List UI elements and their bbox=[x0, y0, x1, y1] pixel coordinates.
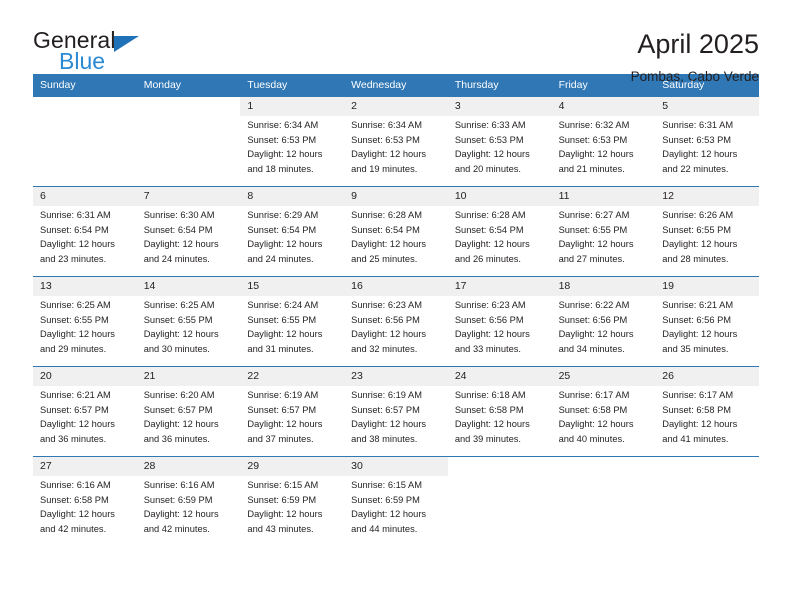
day-number: 6 bbox=[33, 187, 137, 206]
sunset-text: Sunset: 6:53 PM bbox=[662, 133, 753, 148]
sunset-text: Sunset: 6:55 PM bbox=[247, 313, 338, 328]
weekday-header-saturday: Saturday bbox=[655, 74, 759, 97]
sunrise-text: Sunrise: 6:28 AM bbox=[455, 208, 546, 223]
daylight-text-line1: Daylight: 12 hours bbox=[662, 327, 753, 342]
sunset-text: Sunset: 6:57 PM bbox=[144, 403, 235, 418]
daylight-text-line2: and 24 minutes. bbox=[144, 252, 235, 267]
daylight-text-line1: Daylight: 12 hours bbox=[455, 417, 546, 432]
daylight-text-line1: Daylight: 12 hours bbox=[351, 327, 442, 342]
daylight-text-line2: and 43 minutes. bbox=[247, 522, 338, 537]
daylight-text-line2: and 24 minutes. bbox=[247, 252, 338, 267]
sunset-text: Sunset: 6:53 PM bbox=[351, 133, 442, 148]
calendar-day-cell[interactable]: 21Sunrise: 6:20 AMSunset: 6:57 PMDayligh… bbox=[137, 367, 241, 456]
sunrise-text: Sunrise: 6:25 AM bbox=[144, 298, 235, 313]
day-number: 29 bbox=[240, 457, 344, 476]
day-number bbox=[552, 457, 656, 476]
calendar-grid: Sunday Monday Tuesday Wednesday Thursday… bbox=[33, 74, 759, 546]
calendar-page: General Blue April 2025 Pombas, Cabo Ver… bbox=[0, 0, 792, 612]
weekday-header-sunday: Sunday bbox=[33, 74, 137, 97]
sunset-text: Sunset: 6:58 PM bbox=[559, 403, 650, 418]
calendar-day-cell[interactable]: 22Sunrise: 6:19 AMSunset: 6:57 PMDayligh… bbox=[240, 367, 344, 456]
daylight-text-line1: Daylight: 12 hours bbox=[144, 237, 235, 252]
day-number: 3 bbox=[448, 97, 552, 116]
sunset-text: Sunset: 6:55 PM bbox=[40, 313, 131, 328]
daylight-text-line2: and 34 minutes. bbox=[559, 342, 650, 357]
day-details: Sunrise: 6:20 AMSunset: 6:57 PMDaylight:… bbox=[137, 386, 241, 446]
calendar-week-row: 6Sunrise: 6:31 AMSunset: 6:54 PMDaylight… bbox=[33, 186, 759, 276]
sunset-text: Sunset: 6:56 PM bbox=[662, 313, 753, 328]
day-number: 25 bbox=[552, 367, 656, 386]
sunset-text: Sunset: 6:54 PM bbox=[247, 223, 338, 238]
day-number: 2 bbox=[344, 97, 448, 116]
calendar-day-cell[interactable]: 28Sunrise: 6:16 AMSunset: 6:59 PMDayligh… bbox=[137, 457, 241, 546]
weekday-header-thursday: Thursday bbox=[448, 74, 552, 97]
day-details: Sunrise: 6:17 AMSunset: 6:58 PMDaylight:… bbox=[552, 386, 656, 446]
day-details: Sunrise: 6:22 AMSunset: 6:56 PMDaylight:… bbox=[552, 296, 656, 356]
day-number bbox=[33, 97, 137, 116]
sunrise-text: Sunrise: 6:16 AM bbox=[144, 478, 235, 493]
daylight-text-line2: and 27 minutes. bbox=[559, 252, 650, 267]
sunset-text: Sunset: 6:55 PM bbox=[662, 223, 753, 238]
day-number bbox=[655, 457, 759, 476]
daylight-text-line1: Daylight: 12 hours bbox=[40, 237, 131, 252]
day-number: 23 bbox=[344, 367, 448, 386]
calendar-day-cell[interactable]: 19Sunrise: 6:21 AMSunset: 6:56 PMDayligh… bbox=[655, 277, 759, 366]
day-number bbox=[448, 457, 552, 476]
day-details: Sunrise: 6:34 AMSunset: 6:53 PMDaylight:… bbox=[240, 116, 344, 176]
sunrise-text: Sunrise: 6:21 AM bbox=[40, 388, 131, 403]
day-number: 26 bbox=[655, 367, 759, 386]
sunrise-text: Sunrise: 6:28 AM bbox=[351, 208, 442, 223]
sunset-text: Sunset: 6:54 PM bbox=[455, 223, 546, 238]
sunrise-text: Sunrise: 6:23 AM bbox=[455, 298, 546, 313]
day-number: 1 bbox=[240, 97, 344, 116]
sunset-text: Sunset: 6:58 PM bbox=[40, 493, 131, 508]
day-details: Sunrise: 6:18 AMSunset: 6:58 PMDaylight:… bbox=[448, 386, 552, 446]
calendar-day-cell[interactable]: 1Sunrise: 6:34 AMSunset: 6:53 PMDaylight… bbox=[240, 97, 344, 186]
day-details: Sunrise: 6:15 AMSunset: 6:59 PMDaylight:… bbox=[240, 476, 344, 536]
day-details: Sunrise: 6:23 AMSunset: 6:56 PMDaylight:… bbox=[344, 296, 448, 356]
day-number: 9 bbox=[344, 187, 448, 206]
daylight-text-line2: and 18 minutes. bbox=[247, 162, 338, 177]
calendar-day-cell[interactable]: 14Sunrise: 6:25 AMSunset: 6:55 PMDayligh… bbox=[137, 277, 241, 366]
daylight-text-line1: Daylight: 12 hours bbox=[247, 237, 338, 252]
sunset-text: Sunset: 6:53 PM bbox=[559, 133, 650, 148]
sunset-text: Sunset: 6:55 PM bbox=[559, 223, 650, 238]
day-number bbox=[137, 97, 241, 116]
daylight-text-line2: and 36 minutes. bbox=[40, 432, 131, 447]
day-number: 27 bbox=[33, 457, 137, 476]
sunrise-text: Sunrise: 6:16 AM bbox=[40, 478, 131, 493]
daylight-text-line2: and 30 minutes. bbox=[144, 342, 235, 357]
daylight-text-line2: and 42 minutes. bbox=[144, 522, 235, 537]
calendar-day-cell-empty bbox=[137, 97, 241, 186]
sunrise-text: Sunrise: 6:24 AM bbox=[247, 298, 338, 313]
sunset-text: Sunset: 6:54 PM bbox=[144, 223, 235, 238]
weekday-header-monday: Monday bbox=[137, 74, 241, 97]
sunset-text: Sunset: 6:56 PM bbox=[559, 313, 650, 328]
daylight-text-line1: Daylight: 12 hours bbox=[351, 237, 442, 252]
daylight-text-line1: Daylight: 12 hours bbox=[559, 417, 650, 432]
calendar-day-cell[interactable]: 8Sunrise: 6:29 AMSunset: 6:54 PMDaylight… bbox=[240, 187, 344, 276]
daylight-text-line1: Daylight: 12 hours bbox=[40, 417, 131, 432]
day-number: 11 bbox=[552, 187, 656, 206]
daylight-text-line2: and 41 minutes. bbox=[662, 432, 753, 447]
calendar-day-cell-empty bbox=[655, 457, 759, 546]
day-number: 5 bbox=[655, 97, 759, 116]
day-details: Sunrise: 6:15 AMSunset: 6:59 PMDaylight:… bbox=[344, 476, 448, 536]
sunrise-text: Sunrise: 6:18 AM bbox=[455, 388, 546, 403]
sunset-text: Sunset: 6:53 PM bbox=[455, 133, 546, 148]
daylight-text-line1: Daylight: 12 hours bbox=[247, 417, 338, 432]
day-number: 8 bbox=[240, 187, 344, 206]
day-number: 17 bbox=[448, 277, 552, 296]
sunset-text: Sunset: 6:53 PM bbox=[247, 133, 338, 148]
sunset-text: Sunset: 6:59 PM bbox=[351, 493, 442, 508]
calendar-week-row: 27Sunrise: 6:16 AMSunset: 6:58 PMDayligh… bbox=[33, 456, 759, 546]
calendar-day-cell[interactable]: 10Sunrise: 6:28 AMSunset: 6:54 PMDayligh… bbox=[448, 187, 552, 276]
daylight-text-line2: and 19 minutes. bbox=[351, 162, 442, 177]
generalblue-logo[interactable]: General Blue bbox=[33, 29, 148, 75]
daylight-text-line2: and 40 minutes. bbox=[559, 432, 650, 447]
calendar-weeks: 1Sunrise: 6:34 AMSunset: 6:53 PMDaylight… bbox=[33, 97, 759, 546]
day-details: Sunrise: 6:24 AMSunset: 6:55 PMDaylight:… bbox=[240, 296, 344, 356]
daylight-text-line1: Daylight: 12 hours bbox=[247, 147, 338, 162]
calendar-day-cell[interactable]: 23Sunrise: 6:19 AMSunset: 6:57 PMDayligh… bbox=[344, 367, 448, 456]
sunrise-text: Sunrise: 6:30 AM bbox=[144, 208, 235, 223]
daylight-text-line1: Daylight: 12 hours bbox=[144, 507, 235, 522]
day-number: 21 bbox=[137, 367, 241, 386]
sunrise-text: Sunrise: 6:17 AM bbox=[662, 388, 753, 403]
daylight-text-line1: Daylight: 12 hours bbox=[662, 147, 753, 162]
logo-text-blue: Blue bbox=[59, 50, 105, 73]
page-header: General Blue April 2025 Pombas, Cabo Ver… bbox=[33, 0, 759, 74]
day-details: Sunrise: 6:21 AMSunset: 6:56 PMDaylight:… bbox=[655, 296, 759, 356]
calendar-day-cell[interactable]: 30Sunrise: 6:15 AMSunset: 6:59 PMDayligh… bbox=[344, 457, 448, 546]
calendar-day-cell[interactable]: 15Sunrise: 6:24 AMSunset: 6:55 PMDayligh… bbox=[240, 277, 344, 366]
daylight-text-line2: and 35 minutes. bbox=[662, 342, 753, 357]
sunrise-text: Sunrise: 6:19 AM bbox=[351, 388, 442, 403]
sunset-text: Sunset: 6:59 PM bbox=[144, 493, 235, 508]
calendar-day-cell[interactable]: 24Sunrise: 6:18 AMSunset: 6:58 PMDayligh… bbox=[448, 367, 552, 456]
calendar-day-cell[interactable]: 7Sunrise: 6:30 AMSunset: 6:54 PMDaylight… bbox=[137, 187, 241, 276]
daylight-text-line2: and 21 minutes. bbox=[559, 162, 650, 177]
calendar-day-cell[interactable]: 6Sunrise: 6:31 AMSunset: 6:54 PMDaylight… bbox=[33, 187, 137, 276]
calendar-day-cell[interactable]: 25Sunrise: 6:17 AMSunset: 6:58 PMDayligh… bbox=[552, 367, 656, 456]
page-title: April 2025 bbox=[631, 30, 759, 58]
day-details: Sunrise: 6:33 AMSunset: 6:53 PMDaylight:… bbox=[448, 116, 552, 176]
calendar-day-cell[interactable]: 13Sunrise: 6:25 AMSunset: 6:55 PMDayligh… bbox=[33, 277, 137, 366]
sunrise-text: Sunrise: 6:23 AM bbox=[351, 298, 442, 313]
calendar-day-cell[interactable]: 11Sunrise: 6:27 AMSunset: 6:55 PMDayligh… bbox=[552, 187, 656, 276]
calendar-day-cell[interactable]: 16Sunrise: 6:23 AMSunset: 6:56 PMDayligh… bbox=[344, 277, 448, 366]
day-number: 19 bbox=[655, 277, 759, 296]
sunrise-text: Sunrise: 6:25 AM bbox=[40, 298, 131, 313]
day-number: 4 bbox=[552, 97, 656, 116]
calendar-day-cell-empty bbox=[33, 97, 137, 186]
day-details: Sunrise: 6:28 AMSunset: 6:54 PMDaylight:… bbox=[448, 206, 552, 266]
calendar-day-cell[interactable]: 26Sunrise: 6:17 AMSunset: 6:58 PMDayligh… bbox=[655, 367, 759, 456]
sunrise-text: Sunrise: 6:15 AM bbox=[351, 478, 442, 493]
sunrise-text: Sunrise: 6:17 AM bbox=[559, 388, 650, 403]
sunset-text: Sunset: 6:58 PM bbox=[662, 403, 753, 418]
sunrise-text: Sunrise: 6:31 AM bbox=[40, 208, 131, 223]
daylight-text-line2: and 39 minutes. bbox=[455, 432, 546, 447]
day-number: 15 bbox=[240, 277, 344, 296]
daylight-text-line2: and 42 minutes. bbox=[40, 522, 131, 537]
daylight-text-line1: Daylight: 12 hours bbox=[559, 147, 650, 162]
calendar-day-cell-empty bbox=[448, 457, 552, 546]
daylight-text-line2: and 31 minutes. bbox=[247, 342, 338, 357]
daylight-text-line2: and 29 minutes. bbox=[40, 342, 131, 357]
day-details: Sunrise: 6:32 AMSunset: 6:53 PMDaylight:… bbox=[552, 116, 656, 176]
calendar-week-row: 13Sunrise: 6:25 AMSunset: 6:55 PMDayligh… bbox=[33, 276, 759, 366]
day-number: 13 bbox=[33, 277, 137, 296]
sunrise-text: Sunrise: 6:29 AM bbox=[247, 208, 338, 223]
calendar-day-cell[interactable]: 3Sunrise: 6:33 AMSunset: 6:53 PMDaylight… bbox=[448, 97, 552, 186]
sunrise-text: Sunrise: 6:15 AM bbox=[247, 478, 338, 493]
sunrise-text: Sunrise: 6:33 AM bbox=[455, 118, 546, 133]
daylight-text-line2: and 33 minutes. bbox=[455, 342, 546, 357]
sunset-text: Sunset: 6:57 PM bbox=[247, 403, 338, 418]
day-number: 14 bbox=[137, 277, 241, 296]
logo-triangle-icon bbox=[114, 36, 139, 52]
sunset-text: Sunset: 6:54 PM bbox=[40, 223, 131, 238]
sunset-text: Sunset: 6:55 PM bbox=[144, 313, 235, 328]
daylight-text-line1: Daylight: 12 hours bbox=[40, 327, 131, 342]
daylight-text-line1: Daylight: 12 hours bbox=[455, 147, 546, 162]
day-details: Sunrise: 6:16 AMSunset: 6:59 PMDaylight:… bbox=[137, 476, 241, 536]
calendar-day-cell[interactable]: 2Sunrise: 6:34 AMSunset: 6:53 PMDaylight… bbox=[344, 97, 448, 186]
day-details: Sunrise: 6:30 AMSunset: 6:54 PMDaylight:… bbox=[137, 206, 241, 266]
day-details: Sunrise: 6:29 AMSunset: 6:54 PMDaylight:… bbox=[240, 206, 344, 266]
day-details: Sunrise: 6:31 AMSunset: 6:54 PMDaylight:… bbox=[33, 206, 137, 266]
daylight-text-line1: Daylight: 12 hours bbox=[351, 507, 442, 522]
daylight-text-line2: and 36 minutes. bbox=[144, 432, 235, 447]
weekday-header-tuesday: Tuesday bbox=[240, 74, 344, 97]
day-details: Sunrise: 6:17 AMSunset: 6:58 PMDaylight:… bbox=[655, 386, 759, 446]
day-details: Sunrise: 6:21 AMSunset: 6:57 PMDaylight:… bbox=[33, 386, 137, 446]
daylight-text-line2: and 38 minutes. bbox=[351, 432, 442, 447]
daylight-text-line1: Daylight: 12 hours bbox=[144, 417, 235, 432]
sunset-text: Sunset: 6:59 PM bbox=[247, 493, 338, 508]
daylight-text-line1: Daylight: 12 hours bbox=[662, 417, 753, 432]
calendar-week-row: 1Sunrise: 6:34 AMSunset: 6:53 PMDaylight… bbox=[33, 97, 759, 186]
weekday-header-friday: Friday bbox=[552, 74, 656, 97]
daylight-text-line1: Daylight: 12 hours bbox=[40, 507, 131, 522]
day-details: Sunrise: 6:25 AMSunset: 6:55 PMDaylight:… bbox=[137, 296, 241, 356]
daylight-text-line1: Daylight: 12 hours bbox=[662, 237, 753, 252]
daylight-text-line2: and 23 minutes. bbox=[40, 252, 131, 267]
sunrise-text: Sunrise: 6:21 AM bbox=[662, 298, 753, 313]
sunrise-text: Sunrise: 6:32 AM bbox=[559, 118, 650, 133]
day-details: Sunrise: 6:23 AMSunset: 6:56 PMDaylight:… bbox=[448, 296, 552, 356]
calendar-day-cell[interactable]: 18Sunrise: 6:22 AMSunset: 6:56 PMDayligh… bbox=[552, 277, 656, 366]
sunrise-text: Sunrise: 6:22 AM bbox=[559, 298, 650, 313]
day-details: Sunrise: 6:25 AMSunset: 6:55 PMDaylight:… bbox=[33, 296, 137, 356]
calendar-day-cell-empty bbox=[552, 457, 656, 546]
day-number: 22 bbox=[240, 367, 344, 386]
day-details: Sunrise: 6:27 AMSunset: 6:55 PMDaylight:… bbox=[552, 206, 656, 266]
calendar-day-cell[interactable]: 17Sunrise: 6:23 AMSunset: 6:56 PMDayligh… bbox=[448, 277, 552, 366]
day-number: 28 bbox=[137, 457, 241, 476]
day-number: 10 bbox=[448, 187, 552, 206]
daylight-text-line2: and 44 minutes. bbox=[351, 522, 442, 537]
daylight-text-line2: and 37 minutes. bbox=[247, 432, 338, 447]
calendar-day-cell[interactable]: 27Sunrise: 6:16 AMSunset: 6:58 PMDayligh… bbox=[33, 457, 137, 546]
day-details: Sunrise: 6:28 AMSunset: 6:54 PMDaylight:… bbox=[344, 206, 448, 266]
daylight-text-line2: and 28 minutes. bbox=[662, 252, 753, 267]
sunrise-text: Sunrise: 6:20 AM bbox=[144, 388, 235, 403]
daylight-text-line2: and 26 minutes. bbox=[455, 252, 546, 267]
daylight-text-line2: and 32 minutes. bbox=[351, 342, 442, 357]
calendar-week-row: 20Sunrise: 6:21 AMSunset: 6:57 PMDayligh… bbox=[33, 366, 759, 456]
day-details: Sunrise: 6:19 AMSunset: 6:57 PMDaylight:… bbox=[344, 386, 448, 446]
sunset-text: Sunset: 6:57 PM bbox=[351, 403, 442, 418]
day-details: Sunrise: 6:31 AMSunset: 6:53 PMDaylight:… bbox=[655, 116, 759, 176]
calendar-day-cell[interactable]: 9Sunrise: 6:28 AMSunset: 6:54 PMDaylight… bbox=[344, 187, 448, 276]
day-number: 7 bbox=[137, 187, 241, 206]
daylight-text-line1: Daylight: 12 hours bbox=[247, 507, 338, 522]
day-details: Sunrise: 6:34 AMSunset: 6:53 PMDaylight:… bbox=[344, 116, 448, 176]
daylight-text-line2: and 20 minutes. bbox=[455, 162, 546, 177]
sunset-text: Sunset: 6:56 PM bbox=[351, 313, 442, 328]
day-details: Sunrise: 6:16 AMSunset: 6:58 PMDaylight:… bbox=[33, 476, 137, 536]
daylight-text-line1: Daylight: 12 hours bbox=[559, 327, 650, 342]
day-number: 30 bbox=[344, 457, 448, 476]
daylight-text-line2: and 25 minutes. bbox=[351, 252, 442, 267]
sunset-text: Sunset: 6:54 PM bbox=[351, 223, 442, 238]
calendar-day-cell[interactable]: 29Sunrise: 6:15 AMSunset: 6:59 PMDayligh… bbox=[240, 457, 344, 546]
daylight-text-line2: and 22 minutes. bbox=[662, 162, 753, 177]
daylight-text-line1: Daylight: 12 hours bbox=[559, 237, 650, 252]
sunset-text: Sunset: 6:56 PM bbox=[455, 313, 546, 328]
sunrise-text: Sunrise: 6:34 AM bbox=[351, 118, 442, 133]
daylight-text-line1: Daylight: 12 hours bbox=[144, 327, 235, 342]
sunrise-text: Sunrise: 6:19 AM bbox=[247, 388, 338, 403]
calendar-day-cell[interactable]: 12Sunrise: 6:26 AMSunset: 6:55 PMDayligh… bbox=[655, 187, 759, 276]
calendar-day-cell[interactable]: 20Sunrise: 6:21 AMSunset: 6:57 PMDayligh… bbox=[33, 367, 137, 456]
sunrise-text: Sunrise: 6:31 AM bbox=[662, 118, 753, 133]
day-number: 18 bbox=[552, 277, 656, 296]
daylight-text-line1: Daylight: 12 hours bbox=[455, 327, 546, 342]
calendar-day-cell[interactable]: 4Sunrise: 6:32 AMSunset: 6:53 PMDaylight… bbox=[552, 97, 656, 186]
day-details: Sunrise: 6:26 AMSunset: 6:55 PMDaylight:… bbox=[655, 206, 759, 266]
sunset-text: Sunset: 6:57 PM bbox=[40, 403, 131, 418]
sunrise-text: Sunrise: 6:26 AM bbox=[662, 208, 753, 223]
weekday-header-wednesday: Wednesday bbox=[344, 74, 448, 97]
day-number: 12 bbox=[655, 187, 759, 206]
day-number: 16 bbox=[344, 277, 448, 296]
daylight-text-line1: Daylight: 12 hours bbox=[455, 237, 546, 252]
daylight-text-line1: Daylight: 12 hours bbox=[247, 327, 338, 342]
sunrise-text: Sunrise: 6:34 AM bbox=[247, 118, 338, 133]
weekday-header-row: Sunday Monday Tuesday Wednesday Thursday… bbox=[33, 74, 759, 97]
day-number: 20 bbox=[33, 367, 137, 386]
day-number: 24 bbox=[448, 367, 552, 386]
day-details: Sunrise: 6:19 AMSunset: 6:57 PMDaylight:… bbox=[240, 386, 344, 446]
daylight-text-line1: Daylight: 12 hours bbox=[351, 417, 442, 432]
sunrise-text: Sunrise: 6:27 AM bbox=[559, 208, 650, 223]
calendar-day-cell[interactable]: 5Sunrise: 6:31 AMSunset: 6:53 PMDaylight… bbox=[655, 97, 759, 186]
daylight-text-line1: Daylight: 12 hours bbox=[351, 147, 442, 162]
sunset-text: Sunset: 6:58 PM bbox=[455, 403, 546, 418]
